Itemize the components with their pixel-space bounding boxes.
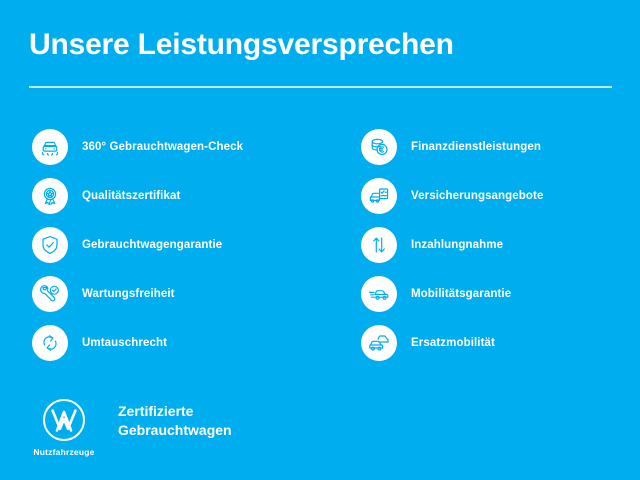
shield-check-icon <box>32 227 68 263</box>
coins-euro-icon <box>361 129 397 165</box>
vw-logo-block: Nutzfahrzeuge <box>32 396 96 457</box>
list-item[interactable]: Qualitätszertifikat <box>32 171 329 220</box>
promises-slide: Unsere Leistungsversprechen <box>0 0 640 480</box>
two-cars-icon <box>361 325 397 361</box>
list-item[interactable]: Wartungsfreiheit <box>32 269 329 318</box>
promises-columns: 360° Gebrauchtwagen-Check Qualitätszerti… <box>0 122 640 367</box>
logo-wordmark: Nutzfahrzeuge <box>33 447 94 457</box>
list-item-label: 360° Gebrauchtwagen-Check <box>82 141 243 153</box>
exchange-arrows-icon <box>32 325 68 361</box>
car-speed-icon <box>361 276 397 312</box>
footer-branding: Nutzfahrzeuge Zertifizierte Gebrauchtwag… <box>32 396 232 457</box>
list-item[interactable]: Umtauschrecht <box>32 318 329 367</box>
up-down-arrows-icon <box>361 227 397 263</box>
list-item-label: Finanzdienstleistungen <box>411 141 541 153</box>
promises-column-left: 360° Gebrauchtwagen-Check Qualitätszerti… <box>0 122 329 367</box>
list-item[interactable]: Ersatzmobilität <box>361 318 640 367</box>
list-item-label: Versicherungsangebote <box>411 190 543 202</box>
list-item[interactable]: Gebrauchtwagengarantie <box>32 220 329 269</box>
vw-logo-icon <box>40 396 88 444</box>
promises-column-right: Finanzdienstleistungen Versicheru <box>329 122 640 367</box>
footer-text-line2: Gebrauchtwagen <box>118 421 232 440</box>
award-rosette-icon <box>32 178 68 214</box>
list-item-label: Mobilitätsgarantie <box>411 288 511 300</box>
car-checklist-icon <box>361 178 397 214</box>
footer-text: Zertifizierte Gebrauchtwagen <box>118 402 232 440</box>
footer-text-line1: Zertifizierte <box>118 402 232 421</box>
page-title: Unsere Leistungsversprechen <box>29 29 454 61</box>
list-item[interactable]: Mobilitätsgarantie <box>361 269 640 318</box>
list-item-label: Ersatzmobilität <box>411 337 495 349</box>
car-front-scan-icon <box>32 129 68 165</box>
list-item[interactable]: Finanzdienstleistungen <box>361 122 640 171</box>
list-item[interactable]: Versicherungsangebote <box>361 171 640 220</box>
wrench-check-icon <box>32 276 68 312</box>
list-item-label: Wartungsfreiheit <box>82 288 175 300</box>
title-divider <box>29 86 612 88</box>
list-item-label: Gebrauchtwagengarantie <box>82 239 222 251</box>
list-item-label: Qualitätszertifikat <box>82 190 180 202</box>
list-item-label: Inzahlungnahme <box>411 239 503 251</box>
list-item[interactable]: Inzahlungnahme <box>361 220 640 269</box>
list-item-label: Umtauschrecht <box>82 337 167 349</box>
list-item[interactable]: 360° Gebrauchtwagen-Check <box>32 122 329 171</box>
